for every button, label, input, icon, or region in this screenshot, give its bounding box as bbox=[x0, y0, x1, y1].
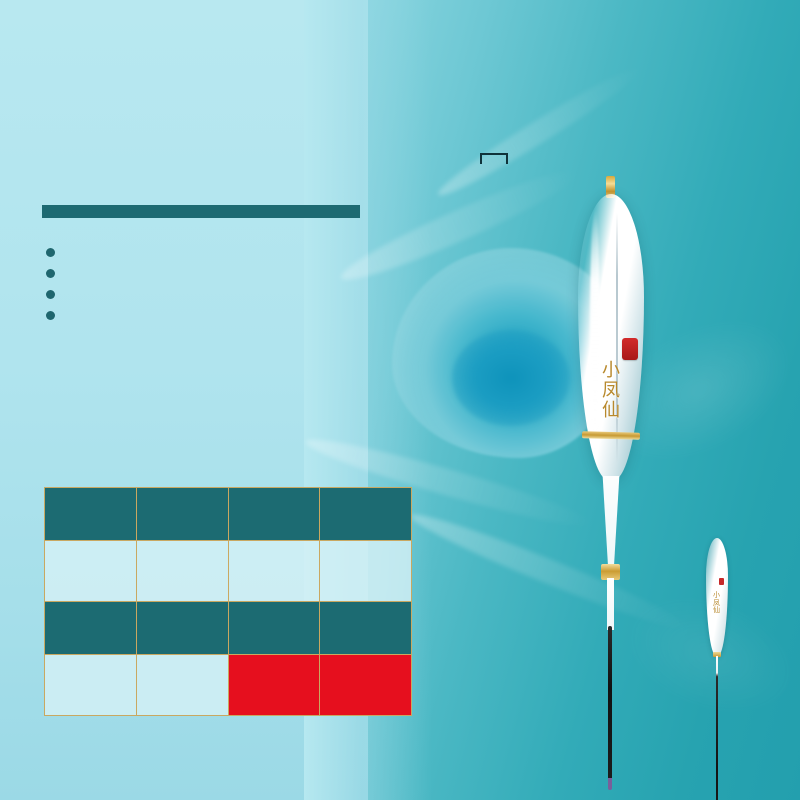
table-row-values-2 bbox=[45, 655, 412, 716]
table-cell-value bbox=[136, 541, 228, 602]
headline-underline-bar bbox=[42, 205, 360, 218]
measurement-ruler bbox=[716, 40, 800, 780]
spec-bullet-list bbox=[46, 252, 446, 336]
table-cell-value-highlighted bbox=[320, 655, 412, 716]
float-body-gloss bbox=[590, 208, 600, 458]
product-infographic: 小凤仙 小凤仙 bbox=[0, 0, 800, 800]
table-header-cell bbox=[228, 602, 320, 655]
red-seal-stamp-icon bbox=[622, 338, 638, 360]
table-cell-value bbox=[228, 541, 320, 602]
table-row-values-1 bbox=[45, 541, 412, 602]
table-row-header-1 bbox=[45, 488, 412, 541]
float-body-seam bbox=[616, 213, 618, 463]
list-item bbox=[46, 315, 446, 324]
float-lower-taper bbox=[600, 476, 622, 572]
table-header-cell bbox=[45, 602, 137, 655]
float-gold-band bbox=[582, 431, 640, 440]
table-cell-value bbox=[320, 541, 412, 602]
table-header-cell bbox=[320, 602, 412, 655]
table-header-cell bbox=[320, 488, 412, 541]
table-cell-value-highlighted bbox=[228, 655, 320, 716]
list-item bbox=[46, 273, 446, 282]
headline-block bbox=[42, 152, 382, 218]
list-item bbox=[46, 294, 446, 303]
float-tail bbox=[607, 8, 614, 180]
table-header-cell bbox=[136, 602, 228, 655]
enlarged-float-tail bbox=[481, 165, 493, 785]
list-item bbox=[46, 252, 446, 261]
table-header-cell bbox=[45, 488, 137, 541]
bullet-dot-icon bbox=[46, 248, 55, 257]
table-header-cell bbox=[136, 488, 228, 541]
brand-name-vertical: 小凤仙 bbox=[602, 360, 621, 420]
float-main-illustration: 小凤仙 bbox=[560, 8, 660, 788]
table-row-header-2 bbox=[45, 602, 412, 655]
float-white-stem bbox=[607, 578, 614, 630]
peacock-feather-core bbox=[452, 330, 570, 426]
tail-measure-bracket-icon bbox=[480, 153, 508, 164]
spec-table bbox=[44, 487, 412, 716]
table-cell-value bbox=[136, 655, 228, 716]
float-carbon-stem bbox=[608, 626, 612, 782]
float-stem-tip bbox=[608, 778, 612, 790]
table-header-cell bbox=[228, 488, 320, 541]
table-cell-value bbox=[45, 655, 137, 716]
bullet-dot-icon bbox=[46, 311, 55, 320]
bullet-dot-icon bbox=[46, 269, 55, 278]
table-cell-value bbox=[45, 541, 137, 602]
bullet-dot-icon bbox=[46, 290, 55, 299]
